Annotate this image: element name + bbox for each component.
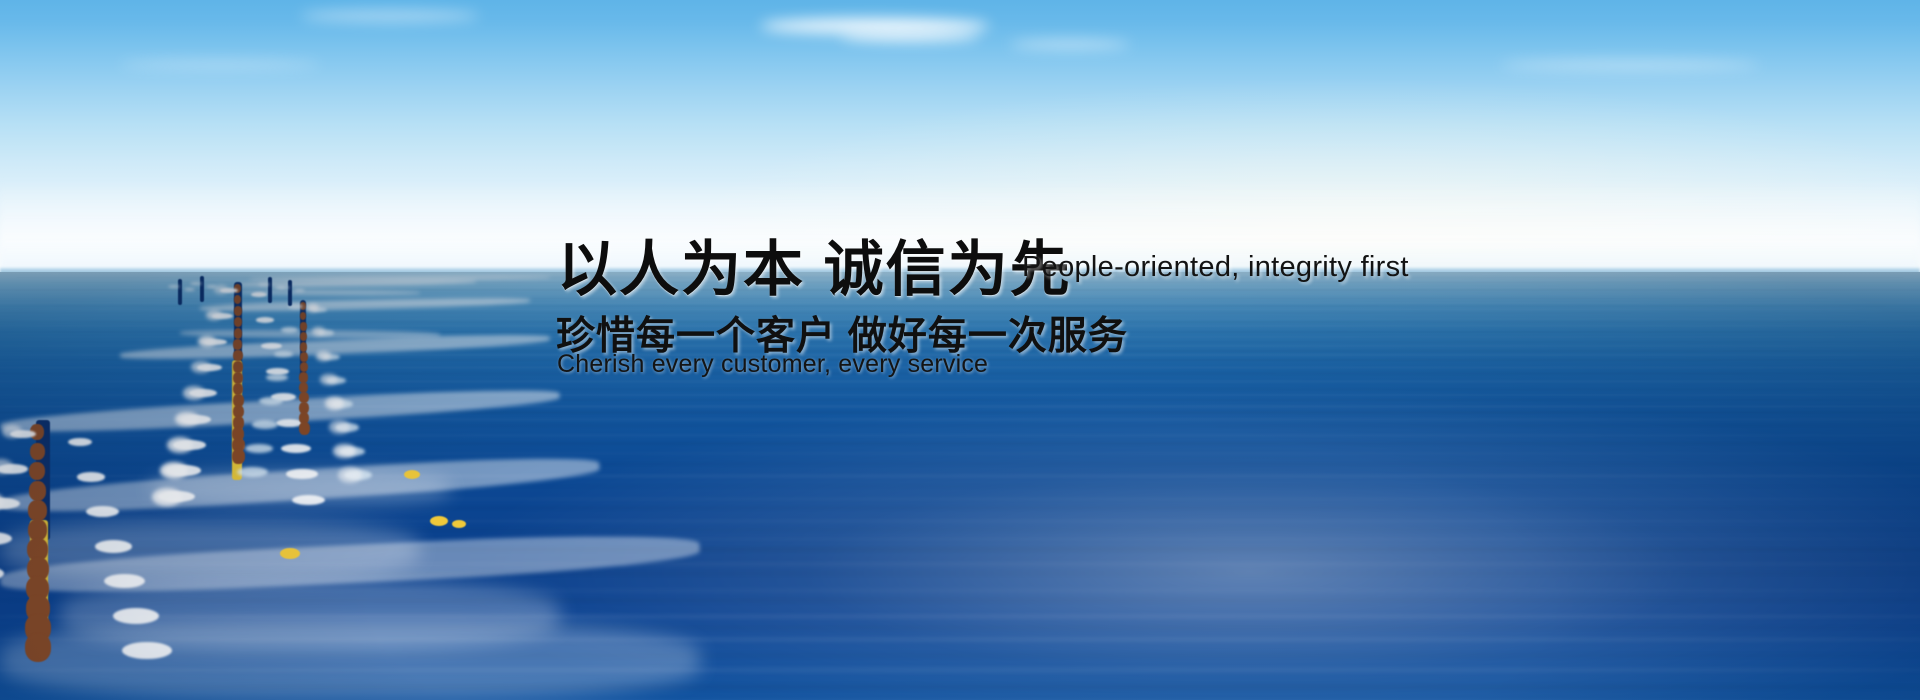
subheadline-english: Cherish every customer, every service	[557, 350, 988, 379]
headline-english: People-oriented, integrity first	[1022, 251, 1409, 284]
slogan-block: 以人为本 诚信为先 People-oriented, integrity fir…	[0, 0, 1920, 700]
hero-banner: 以人为本 诚信为先 People-oriented, integrity fir…	[0, 0, 1920, 700]
headline-chinese: 以人为本 诚信为先	[557, 221, 1072, 308]
